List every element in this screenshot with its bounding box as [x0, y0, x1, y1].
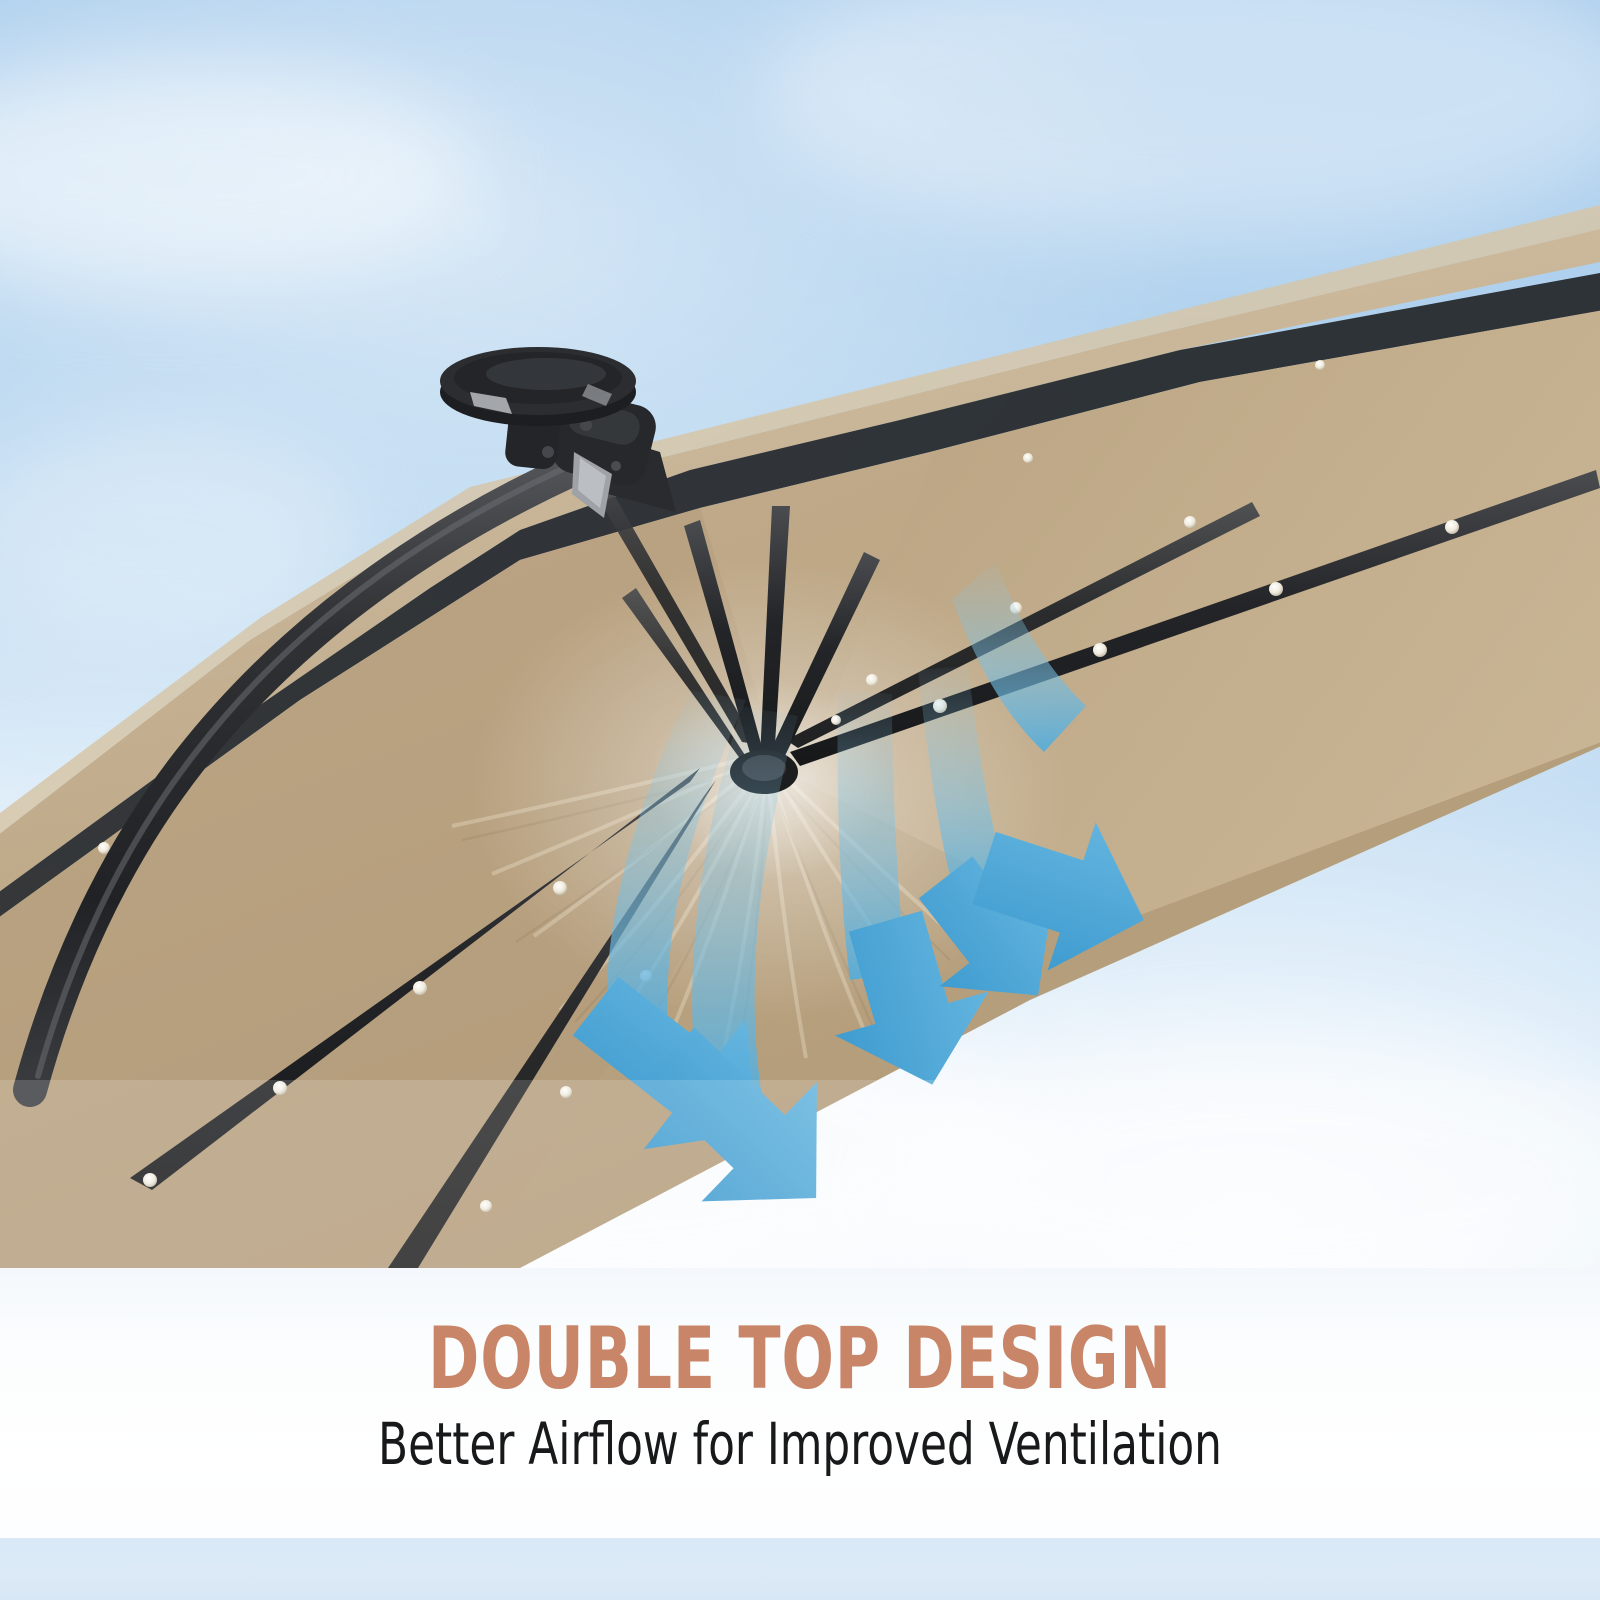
solar-panel-disc: [440, 347, 636, 426]
page-title: DOUBLE TOP DESIGN: [160, 1316, 1440, 1402]
umbrella-illustration: [0, 0, 1600, 1268]
page-subtitle: Better Airflow for Improved Ventilation: [128, 1414, 1472, 1474]
bottom-accent-band: [0, 1538, 1600, 1600]
product-photo: [0, 0, 1600, 1268]
product-feature-image: DOUBLE TOP DESIGN Better Airflow for Imp…: [0, 0, 1600, 1600]
